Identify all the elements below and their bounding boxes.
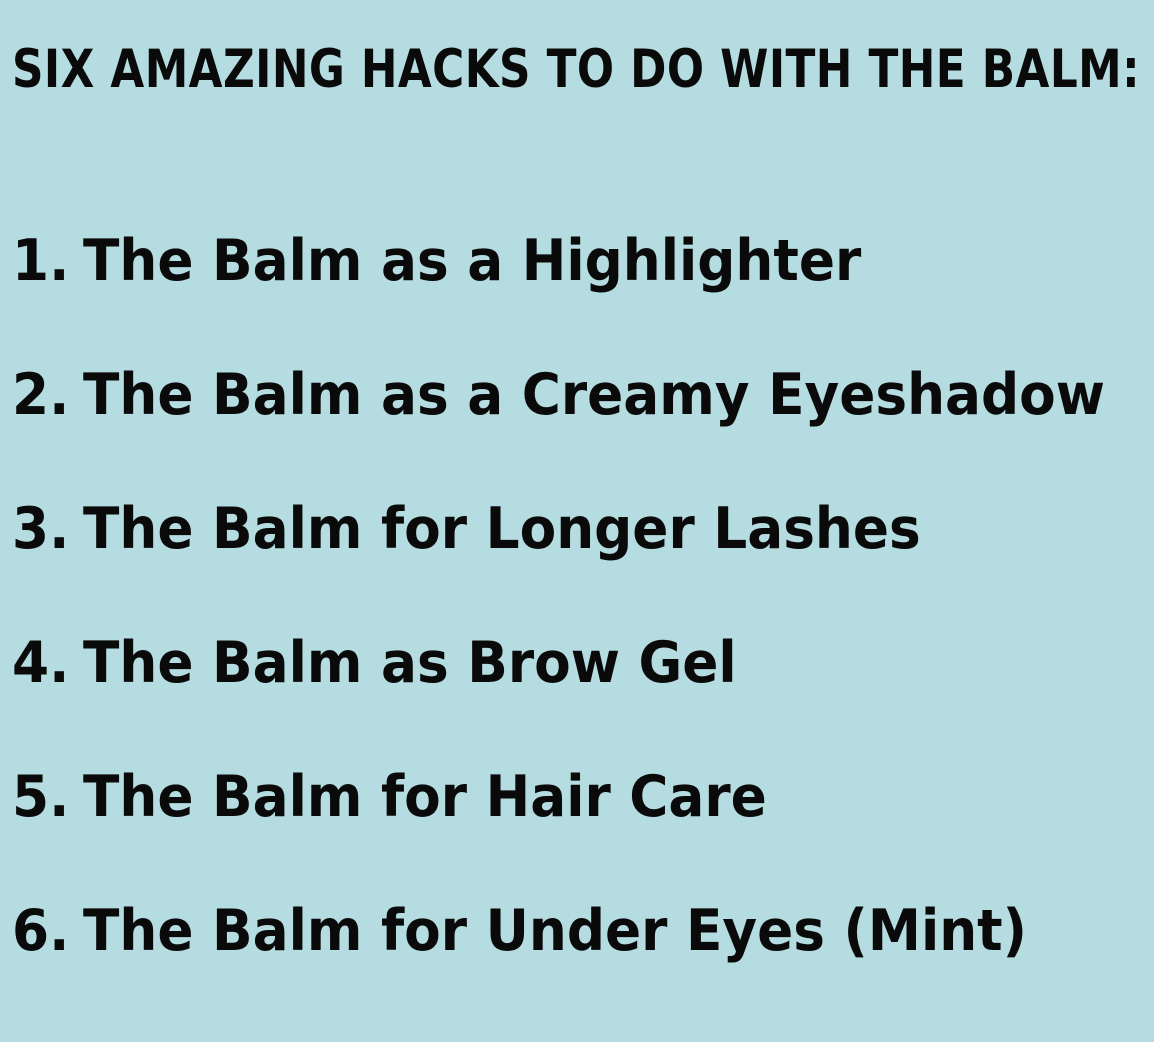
list-item-label: The Balm as a Creamy Eyeshadow	[83, 362, 1105, 428]
list-item: 5. The Balm for Hair Care	[12, 764, 1069, 898]
list-item-number: 3.	[12, 496, 83, 562]
list-item-number: 6.	[12, 898, 83, 964]
list-item: 2. The Balm as a Creamy Eyeshadow	[12, 362, 1069, 496]
list-item-label: The Balm for Hair Care	[83, 764, 767, 830]
page-title: SIX AMAZING HACKS TO DO WITH THE BALM:	[12, 43, 943, 97]
list-item-label: The Balm for Longer Lashes	[83, 496, 921, 562]
list-item-label: The Balm as a Highlighter	[83, 228, 861, 294]
hacks-list: 1. The Balm as a Highlighter 2. The Balm…	[12, 228, 1142, 1032]
list-item-number: 4.	[12, 630, 83, 696]
list-item-label: The Balm for Under Eyes (Mint)	[83, 898, 1027, 964]
list-item-number: 5.	[12, 764, 83, 830]
poster-title-row: SIX AMAZING HACKS TO DO WITH THE BALM:	[12, 36, 1140, 104]
list-item: 3. The Balm for Longer Lashes	[12, 496, 1069, 630]
list-item-number: 2.	[12, 362, 83, 428]
list-item: 6. The Balm for Under Eyes (Mint)	[12, 898, 1069, 1032]
list-item: 1. The Balm as a Highlighter	[12, 228, 1069, 362]
list-item: 4. The Balm as Brow Gel	[12, 630, 1069, 764]
list-item-label: The Balm as Brow Gel	[83, 630, 737, 696]
poster-canvas: SIX AMAZING HACKS TO DO WITH THE BALM: 1…	[0, 0, 1154, 1042]
list-item-number: 1.	[12, 228, 83, 294]
